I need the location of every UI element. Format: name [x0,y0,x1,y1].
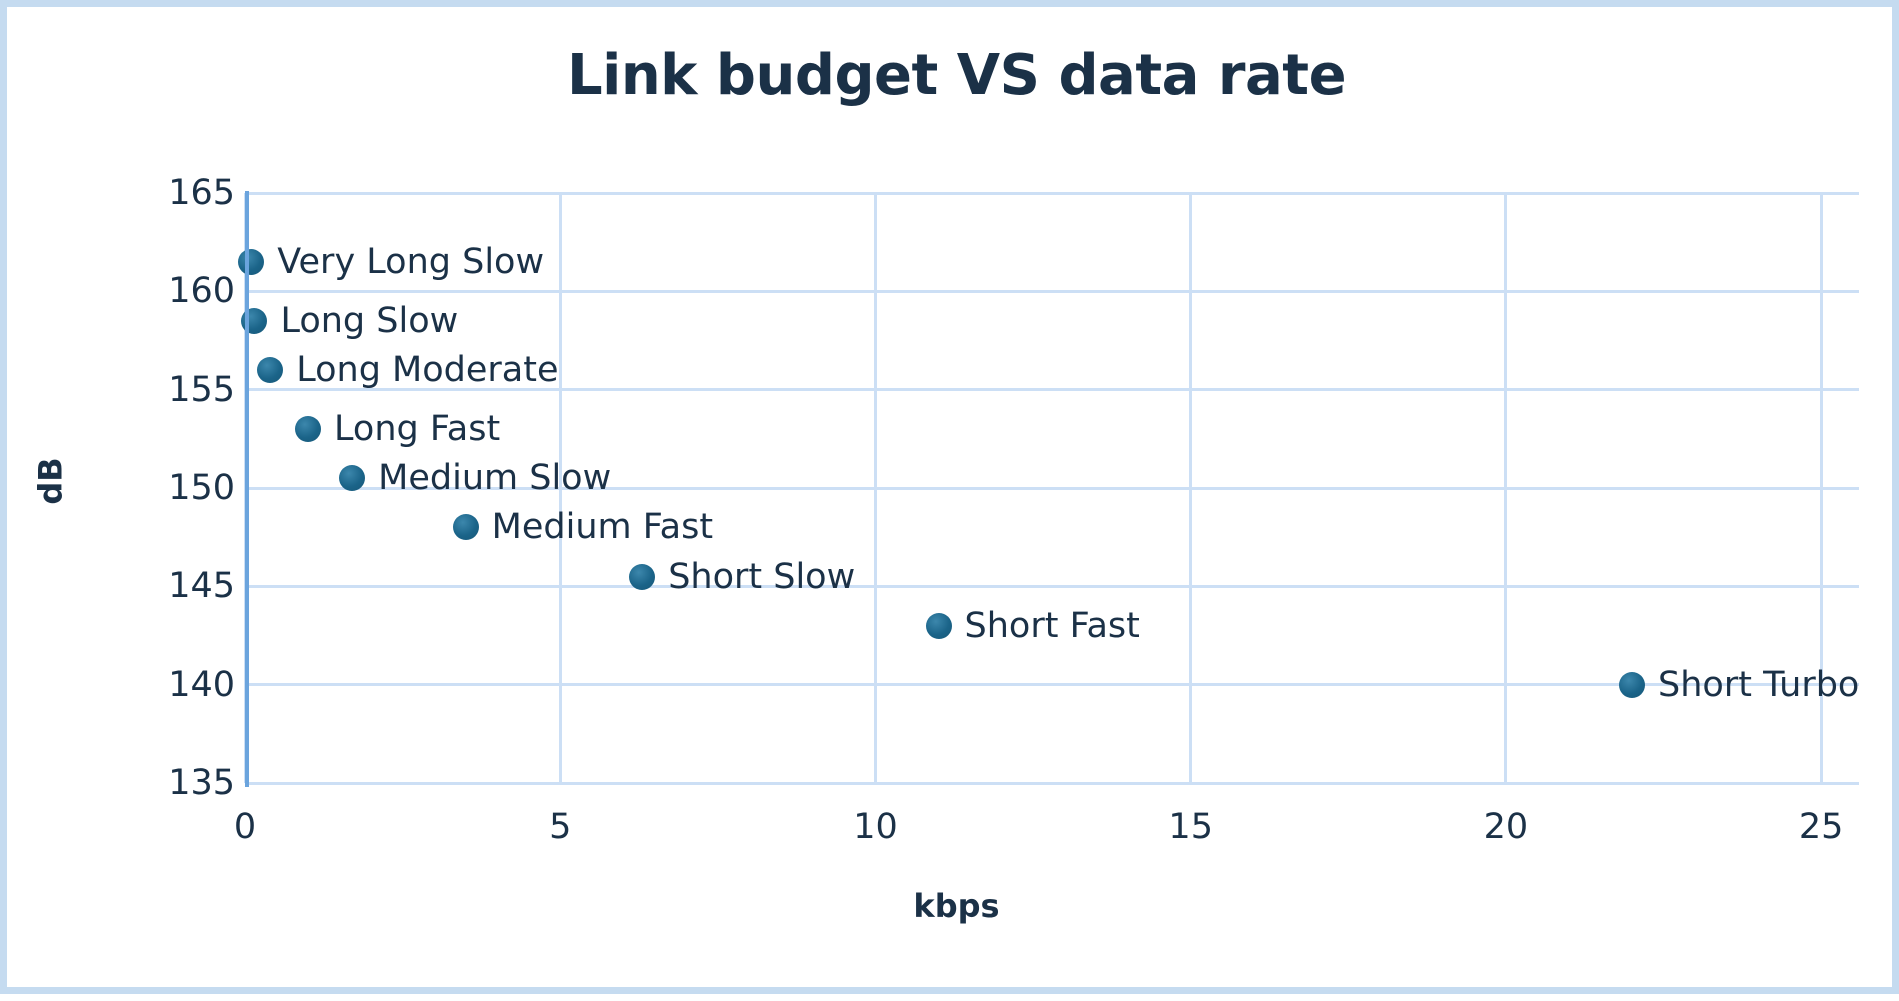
x-axis-tick-label: 25 [1799,807,1844,847]
y-axis-tick-label: 165 [168,173,235,213]
y-axis-line [245,191,249,787]
x-axis-tick-label: 10 [853,807,898,847]
data-point-label: Short Turbo [1658,665,1859,705]
gridline-vertical [1189,193,1192,783]
data-point-marker-icon [629,564,655,590]
gridline-horizontal [245,683,1859,686]
gridline-horizontal [245,782,1859,785]
x-axis-tick-label: 15 [1168,807,1213,847]
y-axis-tick-label: 140 [168,665,235,705]
data-point-marker-icon [453,514,479,540]
gridline-vertical [874,193,877,783]
data-point-marker-icon [1619,672,1645,698]
data-point-marker-icon [257,357,283,383]
data-point-label: Very Long Slow [277,242,544,282]
data-point-label: Long Moderate [296,350,558,390]
data-point-label: Medium Fast [492,507,713,547]
y-axis-tick-label: 135 [168,763,235,803]
y-axis-tick-label: 155 [168,370,235,410]
x-axis-tick-label: 0 [234,807,256,847]
y-axis-tick-label: 160 [168,271,235,311]
data-point-label: Long Fast [334,409,500,449]
gridline-vertical [1504,193,1507,783]
y-axis-tick-label: 145 [168,566,235,606]
data-point-marker-icon [295,416,321,442]
gridline-horizontal [245,192,1859,195]
data-point-label: Medium Slow [378,458,611,498]
data-point-marker-icon [238,249,264,275]
gridline-horizontal [245,290,1859,293]
plot-area: Very Long SlowLong SlowLong ModerateLong… [245,193,1859,783]
plot-wrapper: Very Long SlowLong SlowLong ModerateLong… [7,7,1899,1001]
data-point-label: Long Slow [280,301,458,341]
data-point-label: Short Slow [668,557,855,597]
x-axis-tick-label: 20 [1484,807,1529,847]
y-axis-tick-label: 150 [168,468,235,508]
chart-page: Link budget VS data rate Very Long SlowL… [0,0,1899,994]
x-axis-title: kbps [7,887,1899,925]
x-axis-tick-label: 5 [549,807,571,847]
y-axis-title: dB [32,457,70,504]
data-point-marker-icon [926,613,952,639]
data-point-label: Short Fast [965,606,1140,646]
gridline-horizontal [245,585,1859,588]
